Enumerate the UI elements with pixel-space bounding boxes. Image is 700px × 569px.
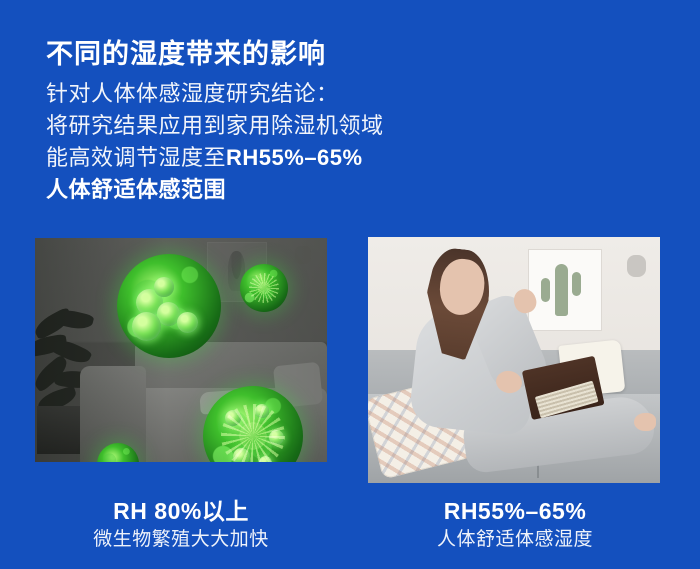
humidity-infographic-poster: 不同的湿度带来的影响 针对人体体感湿度研究结论： 将研究结果应用到家用除湿机领域… — [0, 0, 700, 569]
person-torso — [408, 305, 540, 437]
sofa-backrest — [368, 350, 660, 404]
wall-lamp-icon — [295, 246, 311, 264]
caption-title-comfort-humidity: RH55%–65% — [365, 496, 665, 526]
sofa-illustration — [80, 342, 327, 462]
cactus-wall-art-icon — [528, 249, 602, 331]
caption-subtitle-comfort-humidity: 人体舒适体感湿度 — [365, 526, 665, 554]
person-hand-upper — [511, 286, 539, 316]
person-hand-lower — [494, 369, 524, 396]
person-hair — [420, 246, 493, 362]
wall-art-frame-icon — [207, 242, 267, 302]
page-title: 不同的湿度带来的影响 — [46, 38, 326, 70]
caption-high-humidity: RH 80%以上 微生物繁殖大大加快 — [31, 496, 331, 554]
person-legs — [461, 394, 657, 475]
patterned-pillow-icon — [368, 377, 476, 480]
photo-high-humidity — [35, 238, 327, 462]
dim-living-room-illustration — [35, 238, 327, 462]
sofa-seat — [368, 394, 660, 483]
microbe-cluster-icon — [117, 254, 221, 358]
microbe-small-icon — [97, 443, 139, 462]
body-line-4: 人体舒适体感范围 — [46, 174, 384, 206]
caption-subtitle-high-humidity: 微生物繁殖大大加快 — [31, 526, 331, 554]
microbe-virus-icon — [240, 264, 288, 312]
body-line-3: 能高效调节湿度至RH55%–65% — [46, 142, 384, 174]
body-line-3-normal: 能高效调节湿度至 — [46, 145, 226, 170]
body-line-2: 将研究结果应用到家用除湿机领域 — [46, 110, 384, 142]
caption-comfort-humidity: RH55%–65% 人体舒适体感湿度 — [365, 496, 665, 554]
person-head — [436, 256, 487, 318]
person-foot — [634, 413, 656, 431]
body-copy: 针对人体体感湿度研究结论： 将研究结果应用到家用除湿机领域 能高效调节湿度至RH… — [46, 78, 384, 206]
open-book-icon — [513, 344, 632, 427]
potted-plant-leaves-icon — [35, 309, 113, 414]
wall-speaker-icon — [627, 255, 646, 277]
photo-comfort-humidity — [368, 237, 660, 483]
caption-title-high-humidity: RH 80%以上 — [31, 496, 331, 526]
plant-pot-icon — [37, 406, 83, 454]
wall — [368, 237, 660, 390]
person-arm — [465, 290, 551, 396]
bright-living-room-illustration — [368, 237, 660, 483]
dim-light-overlay — [35, 238, 327, 462]
microbe-virus-large-icon — [203, 386, 303, 462]
body-line-1: 针对人体体感湿度研究结论： — [46, 78, 384, 110]
body-line-3-highlight: RH55%–65% — [226, 145, 363, 170]
